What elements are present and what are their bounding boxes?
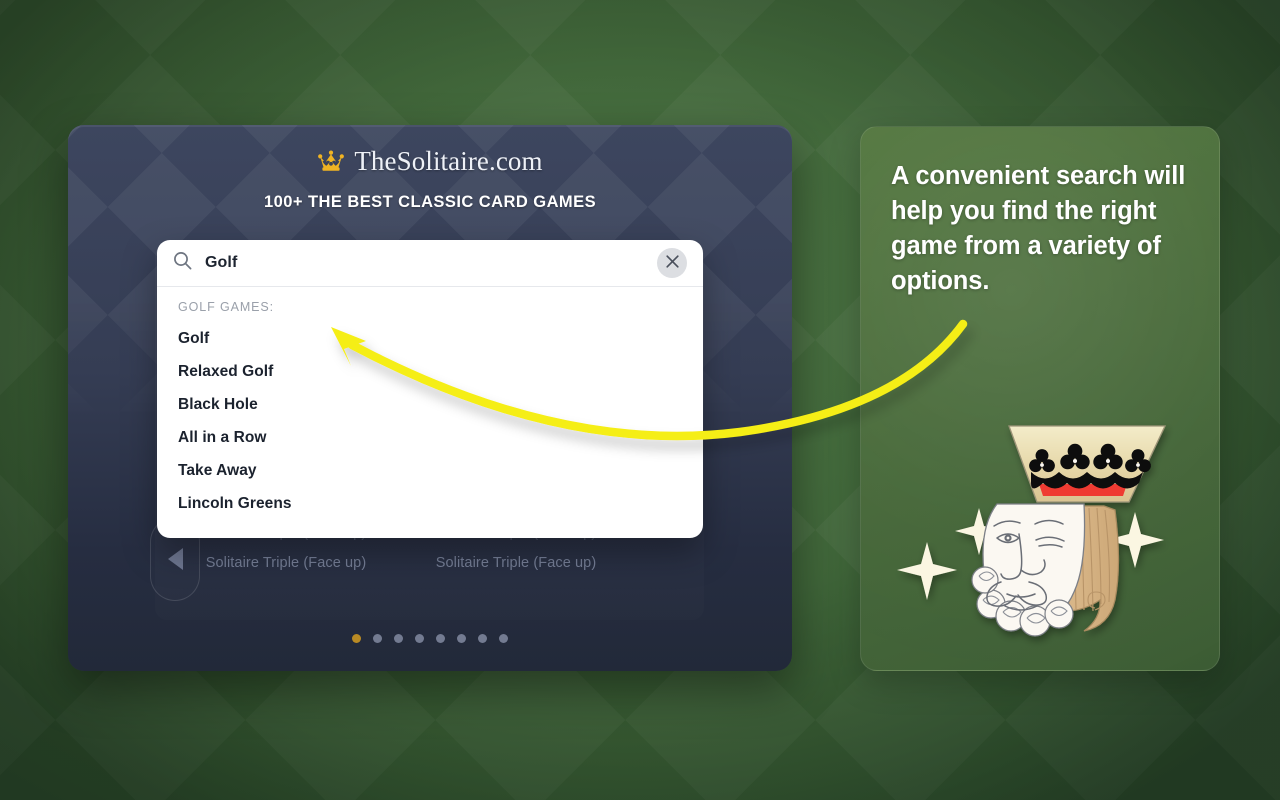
pagination-dot[interactable] bbox=[436, 634, 445, 643]
brand-title: TheSolitaire.com bbox=[354, 146, 542, 177]
carousel-pagination bbox=[68, 634, 792, 643]
crown-icon bbox=[317, 150, 345, 174]
screen: TheSolitaire.com 100+ THE BEST CLASSIC C… bbox=[0, 0, 1280, 800]
pagination-dot[interactable] bbox=[499, 634, 508, 643]
king-of-cards-illustration bbox=[879, 414, 1209, 664]
search-result-item[interactable]: Take Away bbox=[157, 454, 703, 487]
pagination-dot[interactable] bbox=[415, 634, 424, 643]
pagination-dot[interactable] bbox=[352, 634, 361, 643]
search-results: GOLF GAMES: Golf Relaxed Golf Black Hole… bbox=[157, 287, 703, 538]
brand-header: TheSolitaire.com bbox=[68, 146, 792, 177]
callout-text: A convenient search will help you find t… bbox=[891, 159, 1195, 299]
search-result-item[interactable]: Golf bbox=[157, 322, 703, 355]
results-heading: GOLF GAMES: bbox=[157, 300, 703, 322]
search-result-item[interactable]: All in a Row bbox=[157, 421, 703, 454]
search-clear-button[interactable] bbox=[657, 248, 687, 278]
pagination-dot[interactable] bbox=[478, 634, 487, 643]
game-tile-label[interactable]: Solitaire Triple (Face up) bbox=[171, 555, 401, 571]
tagline: 100+ THE BEST CLASSIC CARD GAMES bbox=[68, 193, 792, 212]
search-icon bbox=[173, 251, 205, 275]
callout-panel: A convenient search will help you find t… bbox=[860, 126, 1220, 671]
search-bar bbox=[157, 240, 703, 287]
search-result-item[interactable]: Relaxed Golf bbox=[157, 355, 703, 388]
close-icon bbox=[665, 254, 680, 272]
game-tile-label[interactable]: Solitaire Triple (Face up) bbox=[401, 555, 631, 571]
search-result-item[interactable]: Lincoln Greens bbox=[157, 487, 703, 520]
pagination-dot[interactable] bbox=[373, 634, 382, 643]
search-input[interactable] bbox=[205, 254, 657, 272]
chevron-left-icon bbox=[168, 548, 183, 570]
pagination-dot[interactable] bbox=[394, 634, 403, 643]
search-result-item[interactable]: Black Hole bbox=[157, 388, 703, 421]
search-overlay: GOLF GAMES: Golf Relaxed Golf Black Hole… bbox=[157, 240, 703, 538]
pagination-dot[interactable] bbox=[457, 634, 466, 643]
